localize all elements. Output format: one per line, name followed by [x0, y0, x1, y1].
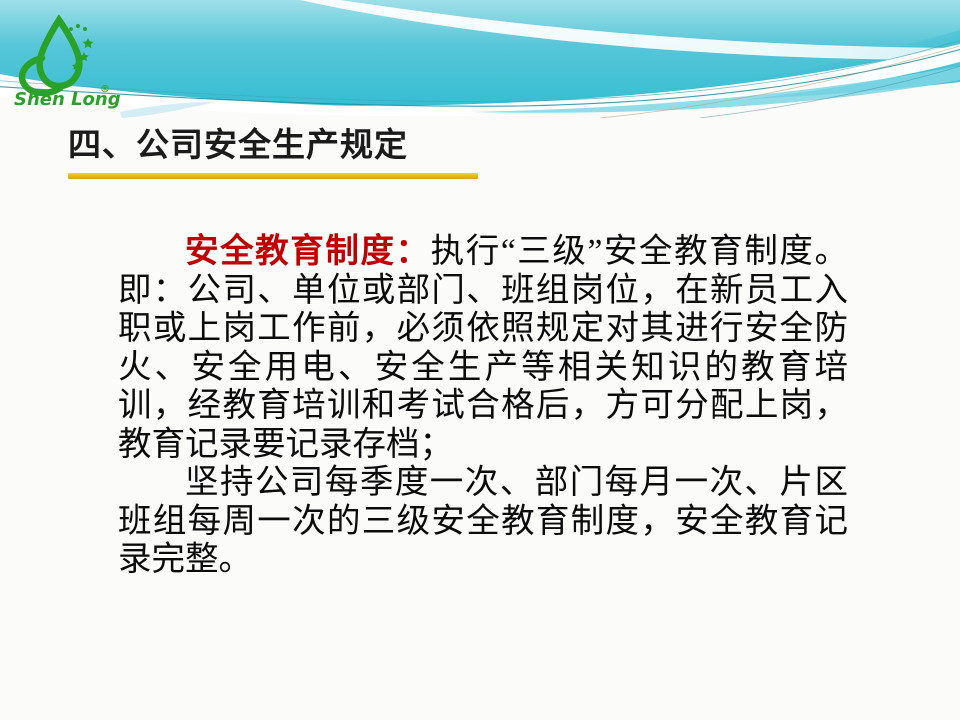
slide-header-banner — [0, 0, 960, 118]
paragraph-1: 安全教育制度：执行“三级”安全教育制度。即：公司、单位或部门、班组岗位，在新员工… — [118, 233, 848, 464]
logo-graphic: Shen Long ® — [12, 12, 120, 112]
paragraph-1-lead: 安全教育制度： — [185, 233, 431, 270]
paragraph-2: 坚持公司每季度一次、部门每月一次、片区班组每周一次的三级安全教育制度，安全教育记… — [118, 464, 848, 580]
shen-long-logo: Shen Long ® — [12, 12, 120, 112]
slide-body-text: 安全教育制度：执行“三级”安全教育制度。即：公司、单位或部门、班组岗位，在新员工… — [118, 233, 848, 580]
logo-trademark: ® — [100, 84, 110, 95]
page-title: 四、公司安全生产规定 — [68, 124, 628, 166]
paragraph-2-rest: 坚持公司每季度一次、部门每月一次、片区班组每周一次的三级安全教育制度，安全教育记… — [118, 464, 848, 578]
title-underline-rule — [68, 173, 478, 179]
slide-title-block: 四、公司安全生产规定 — [68, 124, 628, 179]
water-drop-icon — [22, 20, 79, 93]
header-wave-graphic — [0, 0, 960, 118]
